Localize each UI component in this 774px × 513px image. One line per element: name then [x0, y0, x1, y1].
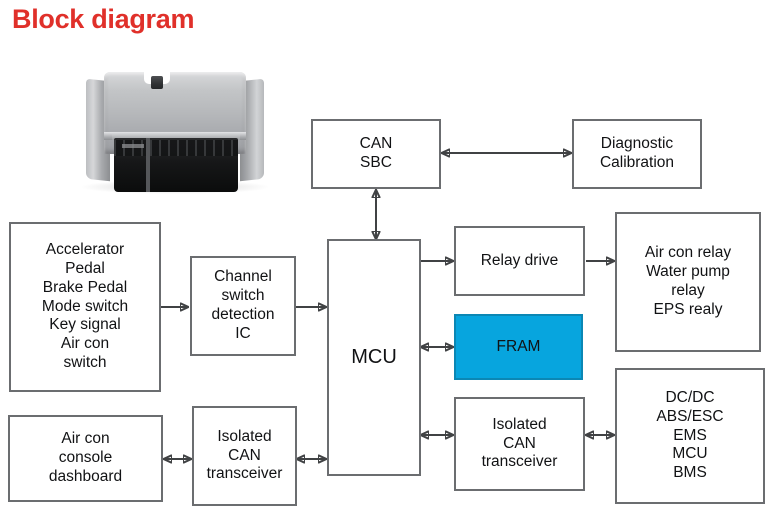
block-relay-drive[interactable]: Relay drive	[454, 226, 585, 296]
block-isolated-can-transceiver-left[interactable]: Isolated CAN transceiver	[192, 406, 297, 506]
block-channel-switch-label: Channel switch detection IC	[212, 268, 275, 344]
block-relay-drive-label: Relay drive	[481, 252, 559, 271]
block-isolated-can-left-label: Isolated CAN transceiver	[207, 428, 283, 485]
block-fram-label: FRAM	[497, 338, 541, 357]
ecu-connector-ribs	[114, 140, 238, 156]
block-diagnostic-label: Diagnostic Calibration	[600, 135, 674, 173]
block-relays[interactable]: Air con relay Water pump relay EPS realy	[615, 212, 761, 352]
block-inputs[interactable]: Accelerator Pedal Brake Pedal Mode switc…	[9, 222, 161, 392]
ecu-connector-divider	[146, 138, 150, 192]
page-title: Block diagram	[12, 6, 194, 33]
block-aircon-console-dashboard[interactable]: Air con console dashboard	[8, 415, 163, 502]
ecu-body	[86, 72, 264, 192]
block-diagnostic-calibration[interactable]: Diagnostic Calibration	[572, 119, 702, 189]
ecu-label-mark	[122, 144, 144, 148]
ecu-module-photo	[66, 62, 284, 202]
block-ecu-nodes[interactable]: DC/DC ABS/ESC EMS MCU BMS	[615, 368, 765, 504]
block-inputs-label: Accelerator Pedal Brake Pedal Mode switc…	[42, 241, 128, 373]
block-mcu[interactable]: MCU	[327, 239, 421, 476]
block-fram[interactable]: FRAM	[454, 314, 583, 380]
block-relays-label: Air con relay Water pump relay EPS realy	[645, 244, 731, 320]
ecu-lid-knob	[151, 76, 163, 89]
block-aircon-console-label: Air con console dashboard	[49, 430, 122, 487]
block-mcu-label: MCU	[351, 345, 397, 369]
block-ecu-nodes-label: DC/DC ABS/ESC EMS MCU BMS	[656, 389, 723, 484]
block-isolated-can-transceiver-right[interactable]: Isolated CAN transceiver	[454, 397, 585, 491]
block-diagram-canvas: Block diagram	[0, 0, 774, 513]
block-channel-switch-detection-ic[interactable]: Channel switch detection IC	[190, 256, 296, 356]
block-isolated-can-right-label: Isolated CAN transceiver	[482, 416, 558, 473]
block-can-sbc[interactable]: CAN SBC	[311, 119, 441, 189]
block-can-sbc-label: CAN SBC	[360, 135, 393, 173]
